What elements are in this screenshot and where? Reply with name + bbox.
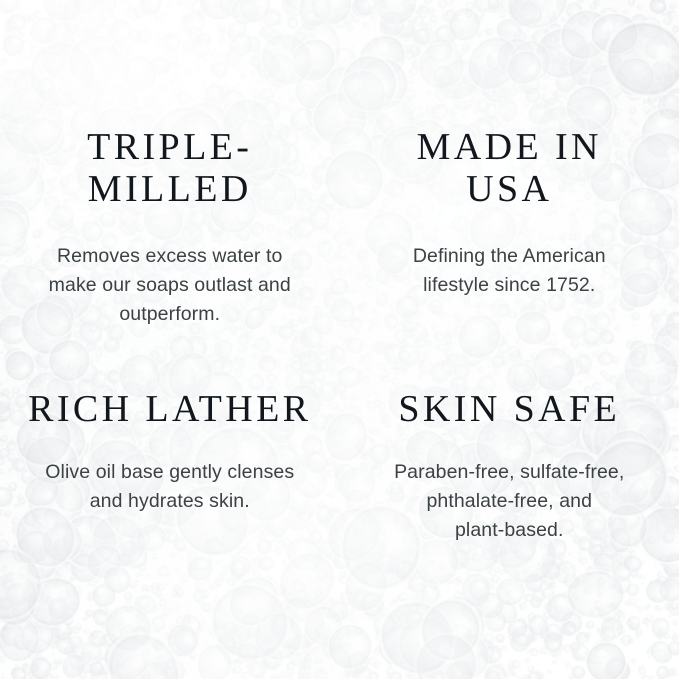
feature-title-triple-milled: TRIPLE- MILLED [87,126,252,210]
feature-description-rich-lather: Olive oil base gently clenses and hydrat… [45,458,294,516]
feature-made-in-usa: MADE IN USA Defining the American lifest… [340,0,679,360]
feature-title-rich-lather: RICH LATHER [28,388,311,430]
feature-description-skin-safe: Paraben-free, sulfate-free, phthalate-fr… [394,458,624,545]
product-benefits-panel: TRIPLE- MILLED Removes excess water to m… [0,0,679,679]
feature-skin-safe: SKIN SAFE Paraben-free, sulfate-free, ph… [340,360,679,679]
feature-rich-lather: RICH LATHER Olive oil base gently clense… [0,360,340,679]
benefits-grid: TRIPLE- MILLED Removes excess water to m… [0,0,679,679]
feature-description-triple-milled: Removes excess water to make our soaps o… [49,242,291,329]
feature-title-skin-safe: SKIN SAFE [398,388,620,430]
feature-triple-milled: TRIPLE- MILLED Removes excess water to m… [0,0,340,360]
feature-description-made-in-usa: Defining the American lifestyle since 17… [413,242,606,300]
feature-title-made-in-usa: MADE IN USA [417,126,602,210]
